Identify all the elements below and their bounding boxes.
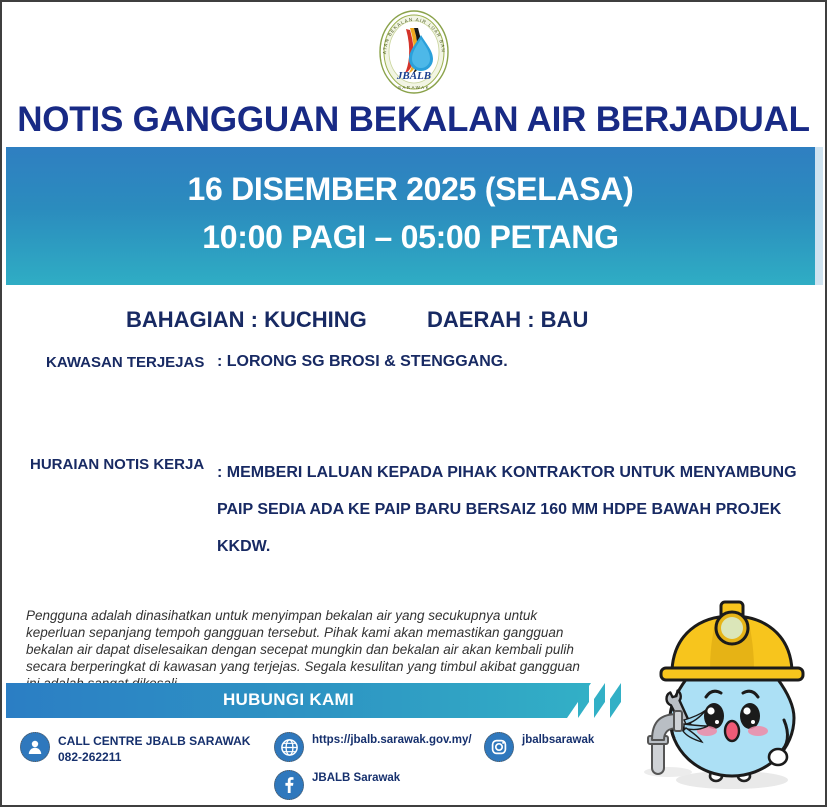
jbalb-logo-icon: JBALB SARAWAK JABATAN BEKALAN AIR LUAR B… xyxy=(375,9,453,95)
instagram-icon xyxy=(484,732,514,762)
contact-banner-title: HUBUNGI KAMI xyxy=(6,690,571,710)
banner-slash-icon xyxy=(594,683,605,718)
call-centre-phone: 082-262211 xyxy=(58,750,121,764)
globe-icon xyxy=(274,732,304,762)
call-centre-text: CALL CENTRE JBALB SARAWAK 082-262211 xyxy=(58,732,250,765)
schedule-time: 10:00 PAGI – 05:00 PETANG xyxy=(6,219,815,256)
logo-ring-bottom: SARAWAK xyxy=(398,85,430,90)
huraian-line: : MEMBERI LALUAN KEPADA PIHAK KONTRAKTOR… xyxy=(217,454,792,491)
person-icon xyxy=(20,732,50,762)
water-droplet-plumber-mascot xyxy=(628,594,824,804)
call-centre-name: CALL CENTRE JBALB SARAWAK xyxy=(58,734,250,748)
kawasan-terjejas-label: KAWASAN TERJEJAS xyxy=(46,354,204,371)
contact-call-centre[interactable]: CALL CENTRE JBALB SARAWAK 082-262211 xyxy=(20,732,250,765)
huraian-line: PAIP SEDIA ADA KE PAIP BARU BERSAIZ 160 … xyxy=(217,491,792,528)
advisory-note: Pengguna adalah dinasihatkan untuk menyi… xyxy=(26,607,591,692)
instagram-handle: jbalbsarawak xyxy=(522,732,594,747)
contact-banner: HUBUNGI KAMI xyxy=(6,683,591,718)
schedule-band: 16 DISEMBER 2025 (SELASA) 10:00 PAGI – 0… xyxy=(6,147,815,285)
contact-instagram[interactable]: jbalbsarawak xyxy=(484,732,594,762)
schedule-date: 16 DISEMBER 2025 (SELASA) xyxy=(6,171,815,208)
daerah-text: DAERAH : BAU xyxy=(427,307,588,333)
website-url: https://jbalb.sarawak.gov.my/ xyxy=(312,732,472,747)
schedule-band-edge xyxy=(815,147,823,285)
huraian-line: KKDW. xyxy=(217,528,792,565)
facebook-handle: JBALB Sarawak xyxy=(312,770,400,785)
kawasan-terjejas-value: : LORONG SG BROSI & STENGGANG. xyxy=(217,353,508,371)
page-title: NOTIS GANGGUAN BEKALAN AIR BERJADUAL xyxy=(2,100,825,140)
banner-slash-icon xyxy=(610,683,621,718)
huraian-notis-kerja-label: HURAIAN NOTIS KERJA xyxy=(30,456,204,473)
contact-website[interactable]: https://jbalb.sarawak.gov.my/ xyxy=(274,732,472,762)
facebook-icon xyxy=(274,770,304,800)
bahagian-text: BAHAGIAN : KUCHING xyxy=(126,307,367,333)
contact-facebook[interactable]: JBALB Sarawak xyxy=(274,770,400,800)
logo-acronym: JBALB xyxy=(395,70,430,82)
logo-container: JBALB SARAWAK JABATAN BEKALAN AIR LUAR B… xyxy=(2,8,825,96)
huraian-notis-kerja-value: : MEMBERI LALUAN KEPADA PIHAK KONTRAKTOR… xyxy=(217,454,792,565)
notice-poster: JBALB SARAWAK JABATAN BEKALAN AIR LUAR B… xyxy=(0,0,827,807)
